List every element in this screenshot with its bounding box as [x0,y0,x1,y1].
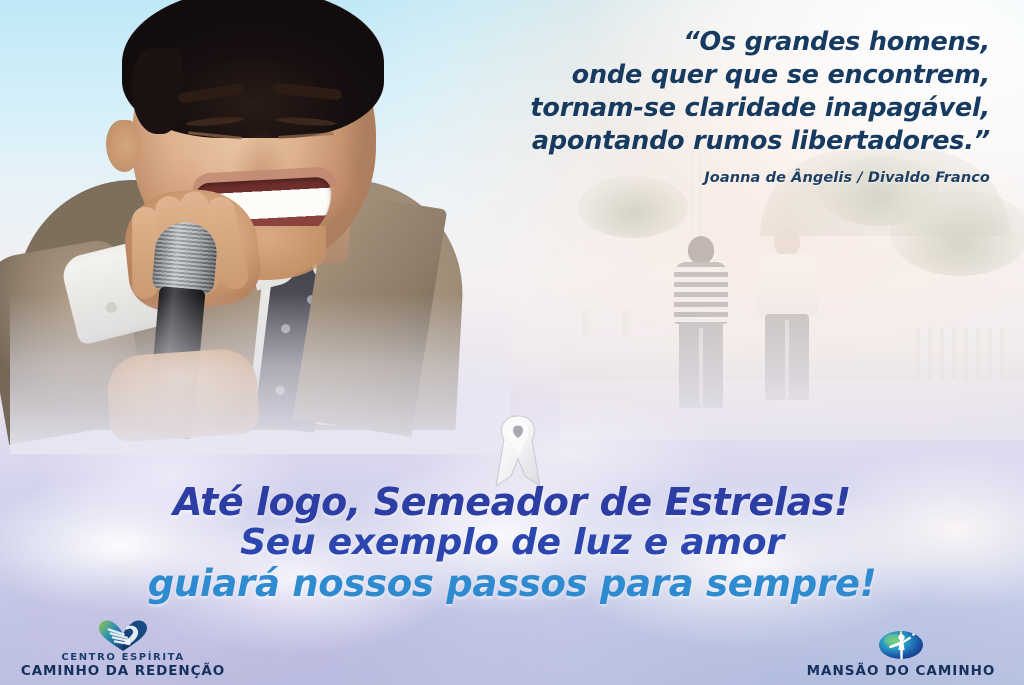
logo-mansao-do-caminho[interactable]: MANSÃO DO CAMINHO [786,626,1016,679]
globe-figure-icon [786,626,1016,660]
quote-line-3: tornam-se claridade inapagável, [430,92,990,125]
microphone-head [151,220,219,295]
hands-heart-icon [8,618,238,652]
headline-line-2: Seu exemplo de luz e amor [0,524,1024,562]
memorial-quote: “Os grandes homens, onde quer que se enc… [430,26,990,158]
quote-attribution: Joanna de Ângelis / Divaldo Franco [430,170,990,186]
quote-line-4: apontando rumos libertadores.” [430,125,990,158]
hair [122,0,384,138]
portrait-divaldo-franco [10,0,480,424]
headline-line-3: guiará nossos passos para sempre! [0,564,1024,603]
memorial-headline: Até logo, Semeador de Estrelas! Seu exem… [0,482,1024,604]
quote-line-1: “Os grandes homens, [430,26,990,59]
ear [106,120,140,172]
headline-line-1: Até logo, Semeador de Estrelas! [0,482,1024,522]
logo-left-line-2: CAMINHO DA REDENÇÃO [8,664,238,679]
memorial-poster: “Os grandes homens, onde quer que se enc… [0,0,1024,685]
quote-line-2: onde quer que se encontrem, [430,59,990,92]
portrait-bottom-fade [10,294,510,454]
logo-right-line-1: MANSÃO DO CAMINHO [786,663,1016,679]
logo-centro-espirita[interactable]: CENTRO ESPÍRITA CAMINHO DA REDENÇÃO [8,618,238,679]
